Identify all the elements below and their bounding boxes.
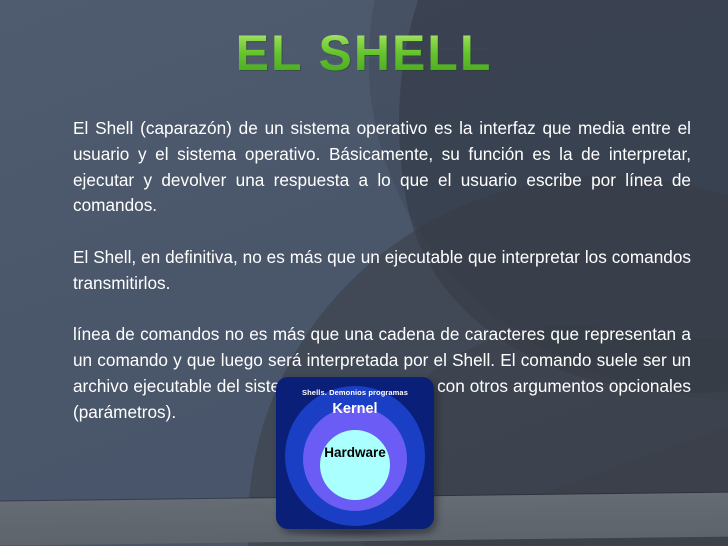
presentation-slide: EL SHELL EL SHELL El Shell (caparazón) d… xyxy=(0,0,728,546)
diagram-label-hardware: Hardware xyxy=(276,445,434,460)
body-paragraph-2: El Shell, en definitiva, no es más que u… xyxy=(73,245,691,322)
diagram-label-shells: Shells. Demonios programas xyxy=(276,388,434,397)
body-paragraph-1: El Shell (caparazón) de un sistema opera… xyxy=(73,116,691,245)
diagram-ring-inner xyxy=(320,430,390,500)
os-layers-diagram: Shells. Demonios programas Kernel Hardwa… xyxy=(276,377,434,529)
slide-title-block: EL SHELL EL SHELL xyxy=(0,28,728,120)
diagram-label-kernel: Kernel xyxy=(276,401,434,417)
page-title-reflection: EL SHELL xyxy=(0,43,728,71)
